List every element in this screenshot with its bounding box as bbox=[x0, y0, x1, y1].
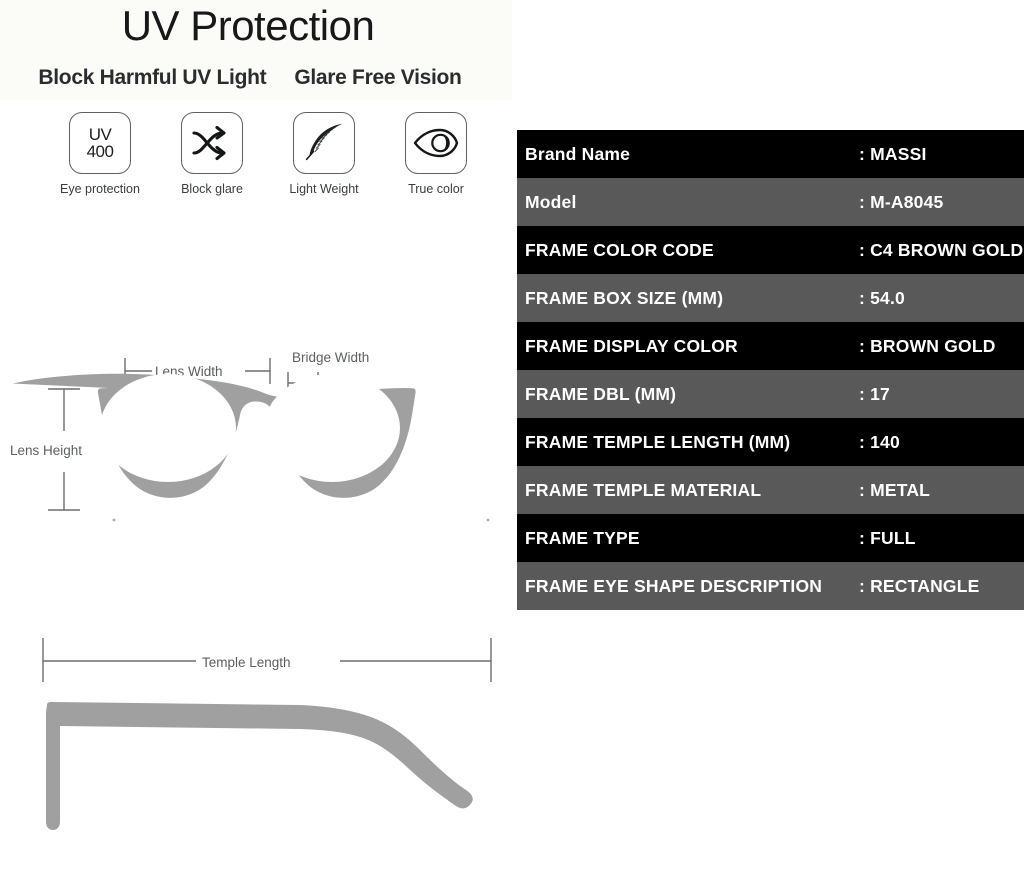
feature-caption-light-weight: Light Weight bbox=[289, 182, 358, 196]
spec-label: Model bbox=[517, 178, 859, 226]
feature-block-glare: Block glare bbox=[160, 112, 264, 196]
feather-icon bbox=[293, 112, 355, 174]
spec-value: : METAL bbox=[859, 466, 1024, 514]
subtitle-block-uv: Block Harmful UV Light bbox=[38, 66, 266, 90]
spec-value: : C4 BROWN GOLD bbox=[859, 226, 1024, 274]
uv400-icon-line2: 400 bbox=[87, 143, 114, 160]
eye-icon bbox=[405, 112, 467, 174]
uv400-icon-line1: UV bbox=[87, 126, 114, 143]
lens-height-label: Lens Height bbox=[10, 443, 82, 458]
feature-caption-true-color: True color bbox=[408, 182, 464, 196]
subtitle-glare-free: Glare Free Vision bbox=[294, 66, 461, 90]
feature-caption-eye-protection: Eye protection bbox=[60, 182, 140, 196]
temple-length-label: Temple Length bbox=[202, 655, 291, 670]
table-row: FRAME DISPLAY COLOR : BROWN GOLD bbox=[517, 322, 1024, 370]
feature-caption-block-glare: Block glare bbox=[181, 182, 243, 196]
infographic-panel: UV Protection Block Harmful UV Light Gla… bbox=[0, 0, 512, 886]
spec-value: : RECTANGLE bbox=[859, 562, 1024, 610]
table-row: FRAME COLOR CODE : C4 BROWN GOLD bbox=[517, 226, 1024, 274]
feature-row: UV 400 Eye protection Block glare bbox=[48, 112, 488, 196]
spec-table-body: Brand Name : MASSI Model : M-A8045 FRAME… bbox=[517, 130, 1024, 610]
spec-value: : 140 bbox=[859, 418, 1024, 466]
table-row: FRAME DBL (MM) : 17 bbox=[517, 370, 1024, 418]
table-row: Brand Name : MASSI bbox=[517, 130, 1024, 178]
spec-value: : MASSI bbox=[859, 130, 1024, 178]
spec-label: FRAME TEMPLE LENGTH (MM) bbox=[517, 418, 859, 466]
bridge-width-label: Bridge Width bbox=[292, 350, 369, 365]
spec-value: : BROWN GOLD bbox=[859, 322, 1024, 370]
table-row: FRAME BOX SIZE (MM) : 54.0 bbox=[517, 274, 1024, 322]
spec-label: FRAME DBL (MM) bbox=[517, 370, 859, 418]
table-row: FRAME TEMPLE MATERIAL : METAL bbox=[517, 466, 1024, 514]
feature-true-color: True color bbox=[384, 112, 488, 196]
shuffle-arrows-icon bbox=[181, 112, 243, 174]
table-row: FRAME TYPE : FULL bbox=[517, 514, 1024, 562]
glasses-front-diagram: Lens Width Bridge Width Lens Height bbox=[0, 320, 512, 550]
spec-value: : 17 bbox=[859, 370, 1024, 418]
spec-label: FRAME TYPE bbox=[517, 514, 859, 562]
uv400-icon: UV 400 bbox=[69, 112, 131, 174]
subtitle-row: Block Harmful UV Light Glare Free Vision bbox=[0, 66, 500, 90]
feature-light-weight: Light Weight bbox=[272, 112, 376, 196]
spec-value: : M-A8045 bbox=[859, 178, 1024, 226]
feature-eye-protection: UV 400 Eye protection bbox=[48, 112, 152, 196]
table-row: Model : M-A8045 bbox=[517, 178, 1024, 226]
spec-label: FRAME DISPLAY COLOR bbox=[517, 322, 859, 370]
spec-label: FRAME BOX SIZE (MM) bbox=[517, 274, 859, 322]
spec-value: : 54.0 bbox=[859, 274, 1024, 322]
temple-arm-shape bbox=[46, 702, 473, 830]
table-row: FRAME TEMPLE LENGTH (MM) : 140 bbox=[517, 418, 1024, 466]
spec-label: FRAME EYE SHAPE DESCRIPTION bbox=[517, 562, 859, 610]
spec-value: : FULL bbox=[859, 514, 1024, 562]
spec-label: FRAME TEMPLE MATERIAL bbox=[517, 466, 859, 514]
spec-label: Brand Name bbox=[517, 130, 859, 178]
table-row: FRAME EYE SHAPE DESCRIPTION : RECTANGLE bbox=[517, 562, 1024, 610]
spec-label: FRAME COLOR CODE bbox=[517, 226, 859, 274]
page-title: UV Protection bbox=[0, 2, 496, 50]
eyeglass-frame-shape bbox=[13, 374, 490, 522]
specification-table: Brand Name : MASSI Model : M-A8045 FRAME… bbox=[517, 130, 1024, 610]
temple-diagram: Temple Length bbox=[0, 620, 512, 870]
